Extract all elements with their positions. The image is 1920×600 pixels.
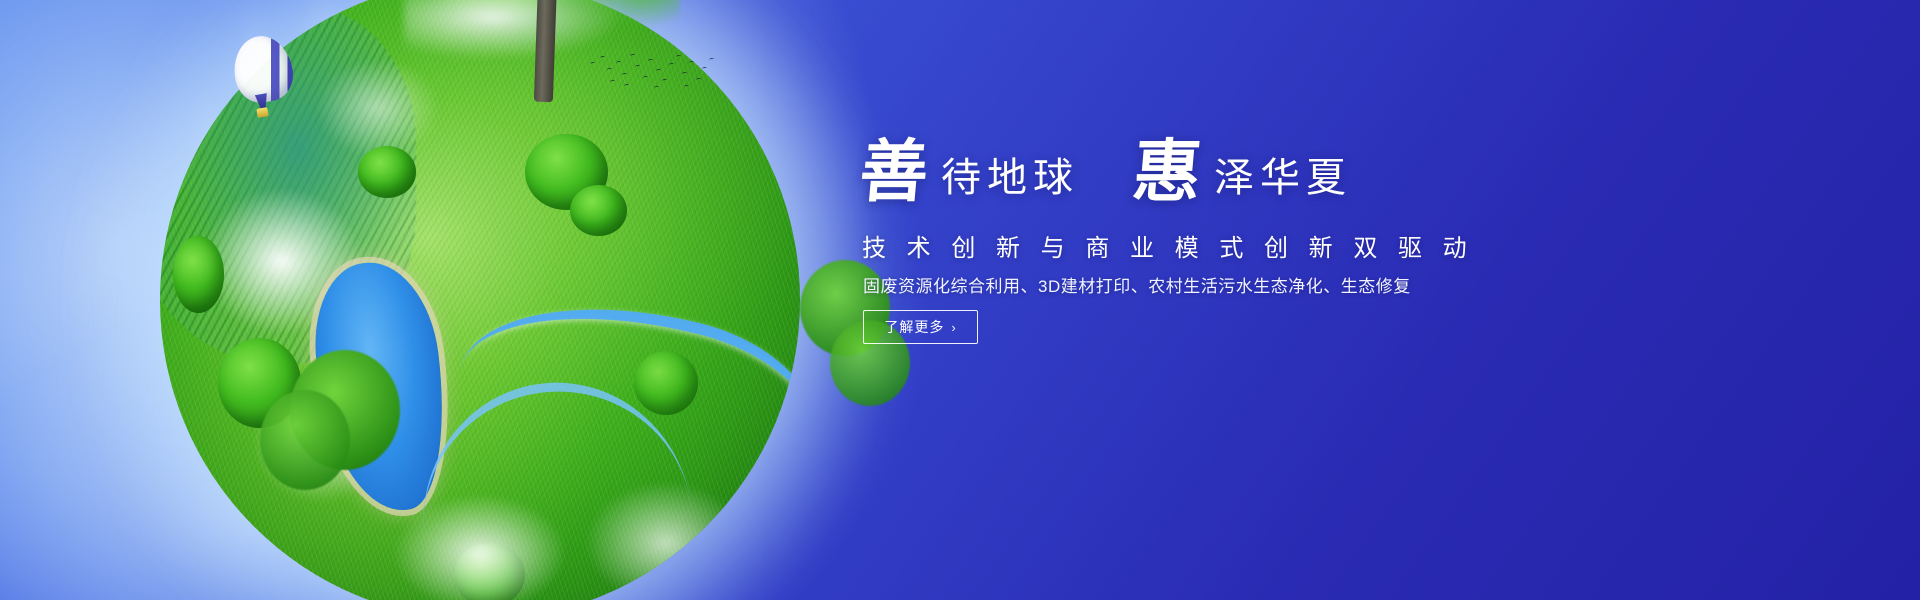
cloud-shape [582,479,748,600]
tree-icon [358,146,416,197]
cloud-shape [404,0,624,60]
hot-air-balloon-icon [234,36,292,124]
tree-icon [570,185,628,236]
page-title: 善 待地球 惠 泽华夏 [860,138,1352,206]
headline-part2-big: 惠 [1130,138,1205,206]
tree-icon [173,236,224,313]
learn-more-button[interactable]: 了解更多 › [863,310,978,344]
tree-icon [634,351,698,415]
headline-part2-small: 泽华夏 [1214,158,1352,198]
learn-more-label: 了解更多 [884,317,944,337]
cloud-shape [314,57,442,159]
bird-flock-icon [588,52,718,94]
headline-part1-small: 待地球 [941,158,1079,198]
tree-icon [260,390,350,490]
banner-copy: 善 待地球 惠 泽华夏 技 术 创 新 与 商 业 模 式 创 新 双 驱 动 … [860,0,1760,600]
banner-subtitle: 技 术 创 新 与 商 业 模 式 创 新 双 驱 动 [862,228,1474,263]
headline-part1-big: 善 [857,138,932,206]
balloon-basket [256,107,268,118]
chevron-right-icon: › [951,321,956,334]
cloud-shape [390,492,569,600]
banner-description: 固废资源化综合利用、3D建材打印、农村生活污水生态净化、生态修复 [863,272,1411,297]
tree-trunk [534,0,557,102]
hero-banner: 善 待地球 惠 泽华夏 技 术 创 新 与 商 业 模 式 创 新 双 驱 动 … [0,0,1920,600]
